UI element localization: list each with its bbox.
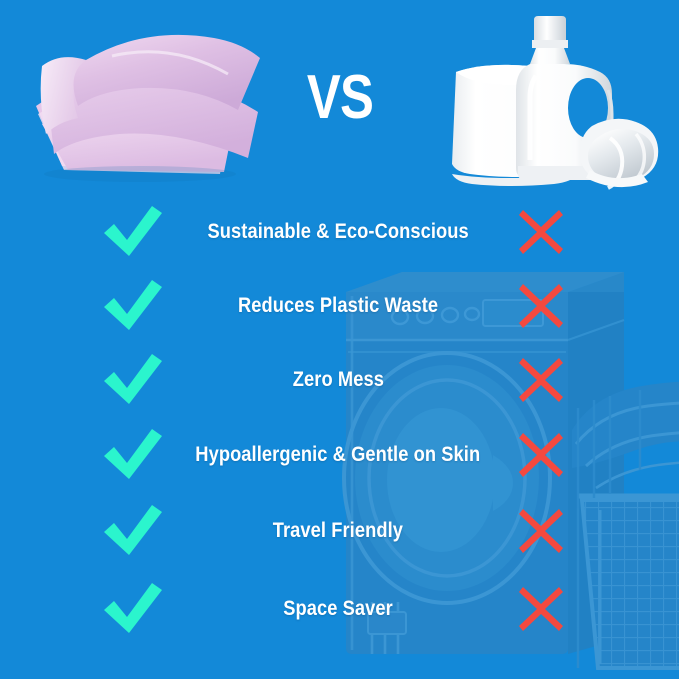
cross-icon <box>516 207 566 257</box>
cross-icon <box>516 430 566 480</box>
check-icon <box>102 583 164 635</box>
feature-label: Space Saver <box>170 596 506 622</box>
table-row: Space Saver <box>0 578 679 640</box>
feature-label: Sustainable & Eco-Conscious <box>170 219 506 245</box>
check-icon <box>102 206 164 258</box>
check-icon <box>102 354 164 406</box>
detergent-pod <box>580 119 658 188</box>
cross-icon <box>516 584 566 634</box>
table-row: Sustainable & Eco-Conscious <box>0 201 679 263</box>
table-row: Zero Mess <box>0 349 679 411</box>
traditional-detergent-products-image <box>440 10 672 190</box>
table-row: Hypoallergenic & Gentle on Skin <box>0 424 679 486</box>
product-comparison-infographic: VS <box>0 0 679 679</box>
comparison-rows: Sustainable & Eco-Conscious Reduces Plas… <box>0 196 679 646</box>
feature-label: Travel Friendly <box>170 518 506 544</box>
cross-icon <box>516 355 566 405</box>
table-row: Reduces Plastic Waste <box>0 275 679 337</box>
feature-label: Reduces Plastic Waste <box>170 293 506 319</box>
check-icon <box>102 429 164 481</box>
check-icon <box>102 280 164 332</box>
check-icon <box>102 505 164 557</box>
vs-label: VS <box>292 62 389 134</box>
hero-comparison-row: VS <box>0 0 679 196</box>
cross-icon <box>516 506 566 556</box>
feature-label: Hypoallergenic & Gentle on Skin <box>170 442 506 468</box>
feature-label: Zero Mess <box>170 367 506 393</box>
laundry-detergent-sheets-image <box>12 20 272 185</box>
cross-icon <box>516 281 566 331</box>
table-row: Travel Friendly <box>0 500 679 562</box>
